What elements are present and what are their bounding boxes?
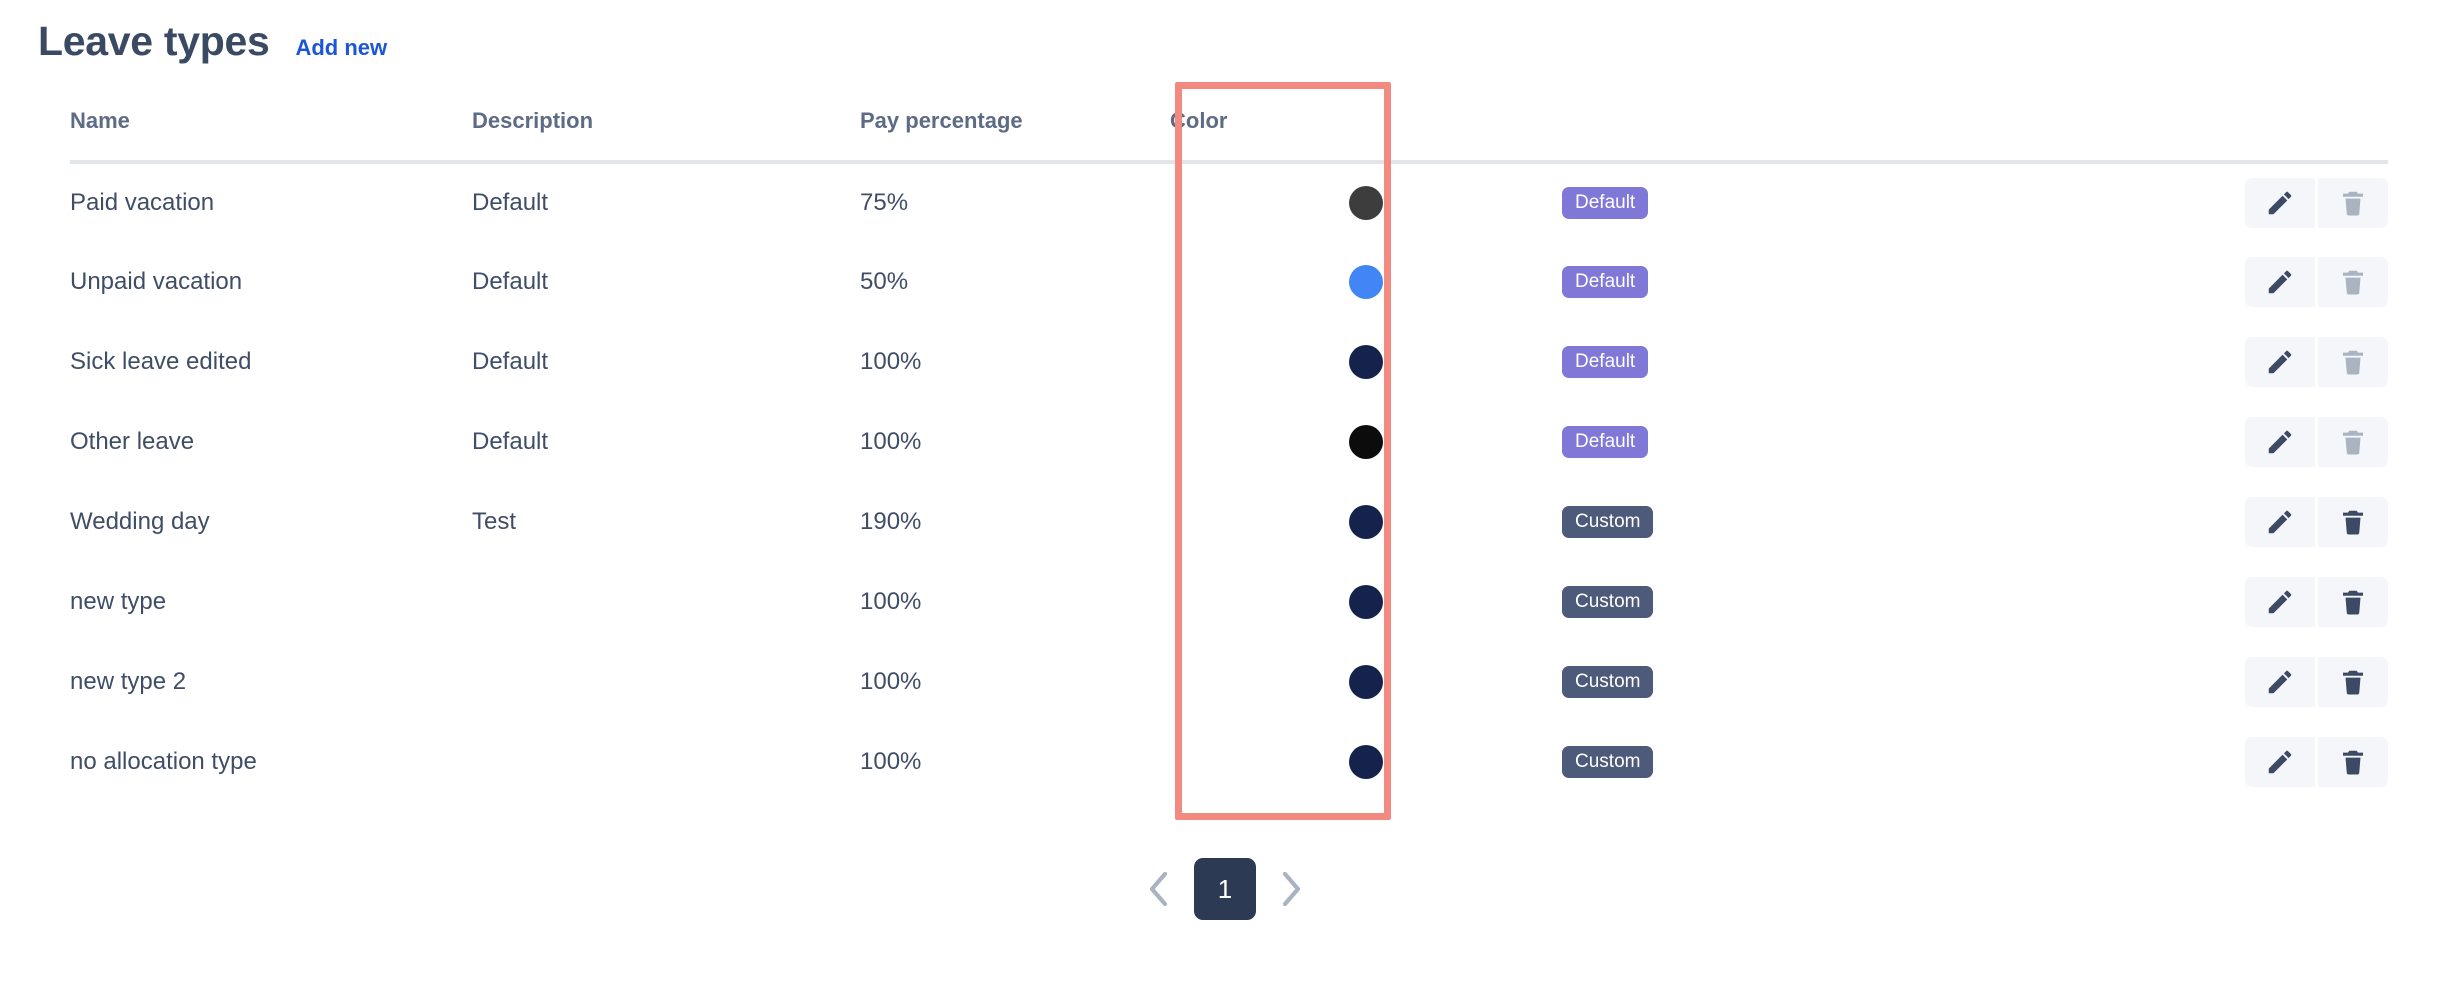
color-swatch xyxy=(1349,186,1383,220)
edit-row-button[interactable] xyxy=(2245,178,2315,228)
cell-pay-percentage: 100% xyxy=(860,402,1170,482)
column-header-color-label: Color xyxy=(1170,108,1227,134)
edit-row-button[interactable] xyxy=(2245,497,2315,547)
edit-row-button[interactable] xyxy=(2245,577,2315,627)
pencil-icon xyxy=(2265,427,2295,457)
cell-kind: Default xyxy=(1562,402,2062,482)
cell-color xyxy=(1170,322,1562,402)
cell-kind: Custom xyxy=(1562,562,2062,642)
status-badge: Default xyxy=(1562,187,1648,219)
status-badge: Custom xyxy=(1562,586,1653,618)
cell-name: no allocation type xyxy=(70,722,472,802)
cell-actions xyxy=(2062,402,2388,482)
cell-pay-percentage: 100% xyxy=(860,562,1170,642)
status-badge: Default xyxy=(1562,426,1648,458)
table-row: Wedding day Test 190% Custom xyxy=(70,482,2388,562)
cell-actions xyxy=(2062,322,2388,402)
cell-color xyxy=(1170,722,1562,802)
pagination: 1 xyxy=(0,858,2450,920)
trash-icon xyxy=(2338,747,2368,777)
table-row: Sick leave edited Default 100% Default xyxy=(70,322,2388,402)
page-header: Leave types Add new xyxy=(38,18,387,65)
column-header-actions xyxy=(2062,108,2388,162)
pencil-icon xyxy=(2265,188,2295,218)
delete-row-button xyxy=(2318,337,2388,387)
cell-description xyxy=(472,722,860,802)
table-row: no allocation type 100% Custom xyxy=(70,722,2388,802)
row-action-group xyxy=(2245,737,2388,787)
table-row: Unpaid vacation Default 50% Default xyxy=(70,242,2388,322)
add-new-link[interactable]: Add new xyxy=(295,35,387,61)
row-action-group xyxy=(2245,337,2388,387)
column-header-pay-percentage[interactable]: Pay percentage xyxy=(860,108,1170,162)
edit-row-button[interactable] xyxy=(2245,417,2315,467)
cell-actions xyxy=(2062,242,2388,322)
pagination-prev-icon[interactable] xyxy=(1142,867,1176,911)
trash-icon xyxy=(2338,587,2368,617)
color-swatch xyxy=(1349,505,1383,539)
status-badge: Custom xyxy=(1562,506,1653,538)
color-swatch xyxy=(1349,425,1383,459)
cell-name: Unpaid vacation xyxy=(70,242,472,322)
pencil-icon xyxy=(2265,347,2295,377)
color-swatch xyxy=(1349,585,1383,619)
cell-description: Default xyxy=(472,162,860,242)
cell-color xyxy=(1170,402,1562,482)
cell-actions xyxy=(2062,722,2388,802)
pagination-next-icon[interactable] xyxy=(1274,867,1308,911)
table-row: Paid vacation Default 75% Default xyxy=(70,162,2388,242)
pencil-icon xyxy=(2265,587,2295,617)
cell-actions xyxy=(2062,642,2388,722)
cell-color xyxy=(1170,242,1562,322)
cell-pay-percentage: 100% xyxy=(860,322,1170,402)
row-action-group xyxy=(2245,257,2388,307)
delete-row-button xyxy=(2318,257,2388,307)
row-action-group xyxy=(2245,497,2388,547)
cell-description: Default xyxy=(472,242,860,322)
pencil-icon xyxy=(2265,667,2295,697)
cell-pay-percentage: 75% xyxy=(860,162,1170,242)
table-body: Paid vacation Default 75% Default Unpaid… xyxy=(70,162,2388,802)
table-header-row: Name Description Pay percentage Color xyxy=(70,108,2388,162)
cell-description: Test xyxy=(472,482,860,562)
cell-description xyxy=(472,562,860,642)
trash-icon xyxy=(2338,427,2368,457)
row-action-group xyxy=(2245,417,2388,467)
trash-icon xyxy=(2338,667,2368,697)
delete-row-button[interactable] xyxy=(2318,657,2388,707)
status-badge: Custom xyxy=(1562,666,1653,698)
table-row: Other leave Default 100% Default xyxy=(70,402,2388,482)
trash-icon xyxy=(2338,507,2368,537)
cell-kind: Custom xyxy=(1562,722,2062,802)
cell-actions xyxy=(2062,562,2388,642)
cell-color xyxy=(1170,642,1562,722)
cell-kind: Default xyxy=(1562,242,2062,322)
cell-name: Sick leave edited xyxy=(70,322,472,402)
cell-description: Default xyxy=(472,322,860,402)
row-action-group xyxy=(2245,178,2388,228)
edit-row-button[interactable] xyxy=(2245,337,2315,387)
cell-pay-percentage: 100% xyxy=(860,722,1170,802)
pencil-icon xyxy=(2265,507,2295,537)
cell-description xyxy=(472,642,860,722)
delete-row-button[interactable] xyxy=(2318,497,2388,547)
edit-row-button[interactable] xyxy=(2245,657,2315,707)
leave-types-page: Leave types Add new Name Description Pay… xyxy=(0,0,2450,1004)
cell-color xyxy=(1170,562,1562,642)
pencil-icon xyxy=(2265,267,2295,297)
trash-icon xyxy=(2338,347,2368,377)
row-action-group xyxy=(2245,577,2388,627)
status-badge: Default xyxy=(1562,266,1648,298)
color-swatch xyxy=(1349,745,1383,779)
pagination-page-1[interactable]: 1 xyxy=(1194,858,1256,920)
delete-row-button[interactable] xyxy=(2318,577,2388,627)
color-swatch xyxy=(1349,345,1383,379)
color-swatch xyxy=(1349,665,1383,699)
delete-row-button[interactable] xyxy=(2318,737,2388,787)
cell-color xyxy=(1170,482,1562,562)
cell-kind: Custom xyxy=(1562,642,2062,722)
trash-icon xyxy=(2338,267,2368,297)
status-badge: Default xyxy=(1562,346,1648,378)
delete-row-button xyxy=(2318,178,2388,228)
leave-types-table: Name Description Pay percentage Color Pa… xyxy=(70,108,2388,802)
status-badge: Custom xyxy=(1562,746,1653,778)
table-row: new type 100% Custom xyxy=(70,562,2388,642)
cell-kind: Default xyxy=(1562,322,2062,402)
color-swatch xyxy=(1349,265,1383,299)
table-header: Name Description Pay percentage Color xyxy=(70,108,2388,162)
cell-pay-percentage: 50% xyxy=(860,242,1170,322)
trash-icon xyxy=(2338,188,2368,218)
cell-pay-percentage: 100% xyxy=(860,642,1170,722)
cell-description: Default xyxy=(472,402,860,482)
cell-kind: Default xyxy=(1562,162,2062,242)
page-title: Leave types xyxy=(38,18,269,65)
edit-row-button[interactable] xyxy=(2245,257,2315,307)
table-row: new type 2 100% Custom xyxy=(70,642,2388,722)
cell-actions xyxy=(2062,162,2388,242)
cell-name: Other leave xyxy=(70,402,472,482)
cell-name: new type xyxy=(70,562,472,642)
row-action-group xyxy=(2245,657,2388,707)
edit-row-button[interactable] xyxy=(2245,737,2315,787)
cell-pay-percentage: 190% xyxy=(860,482,1170,562)
delete-row-button xyxy=(2318,417,2388,467)
cell-color xyxy=(1170,162,1562,242)
cell-name: Wedding day xyxy=(70,482,472,562)
column-header-description[interactable]: Description xyxy=(472,108,860,162)
column-header-kind xyxy=(1562,108,2062,162)
cell-actions xyxy=(2062,482,2388,562)
cell-name: new type 2 xyxy=(70,642,472,722)
leave-types-table-container: Name Description Pay percentage Color Pa… xyxy=(70,108,2388,802)
cell-kind: Custom xyxy=(1562,482,2062,562)
column-header-color[interactable]: Color xyxy=(1170,108,1562,162)
pencil-icon xyxy=(2265,747,2295,777)
cell-name: Paid vacation xyxy=(70,162,472,242)
column-header-name[interactable]: Name xyxy=(70,108,472,162)
